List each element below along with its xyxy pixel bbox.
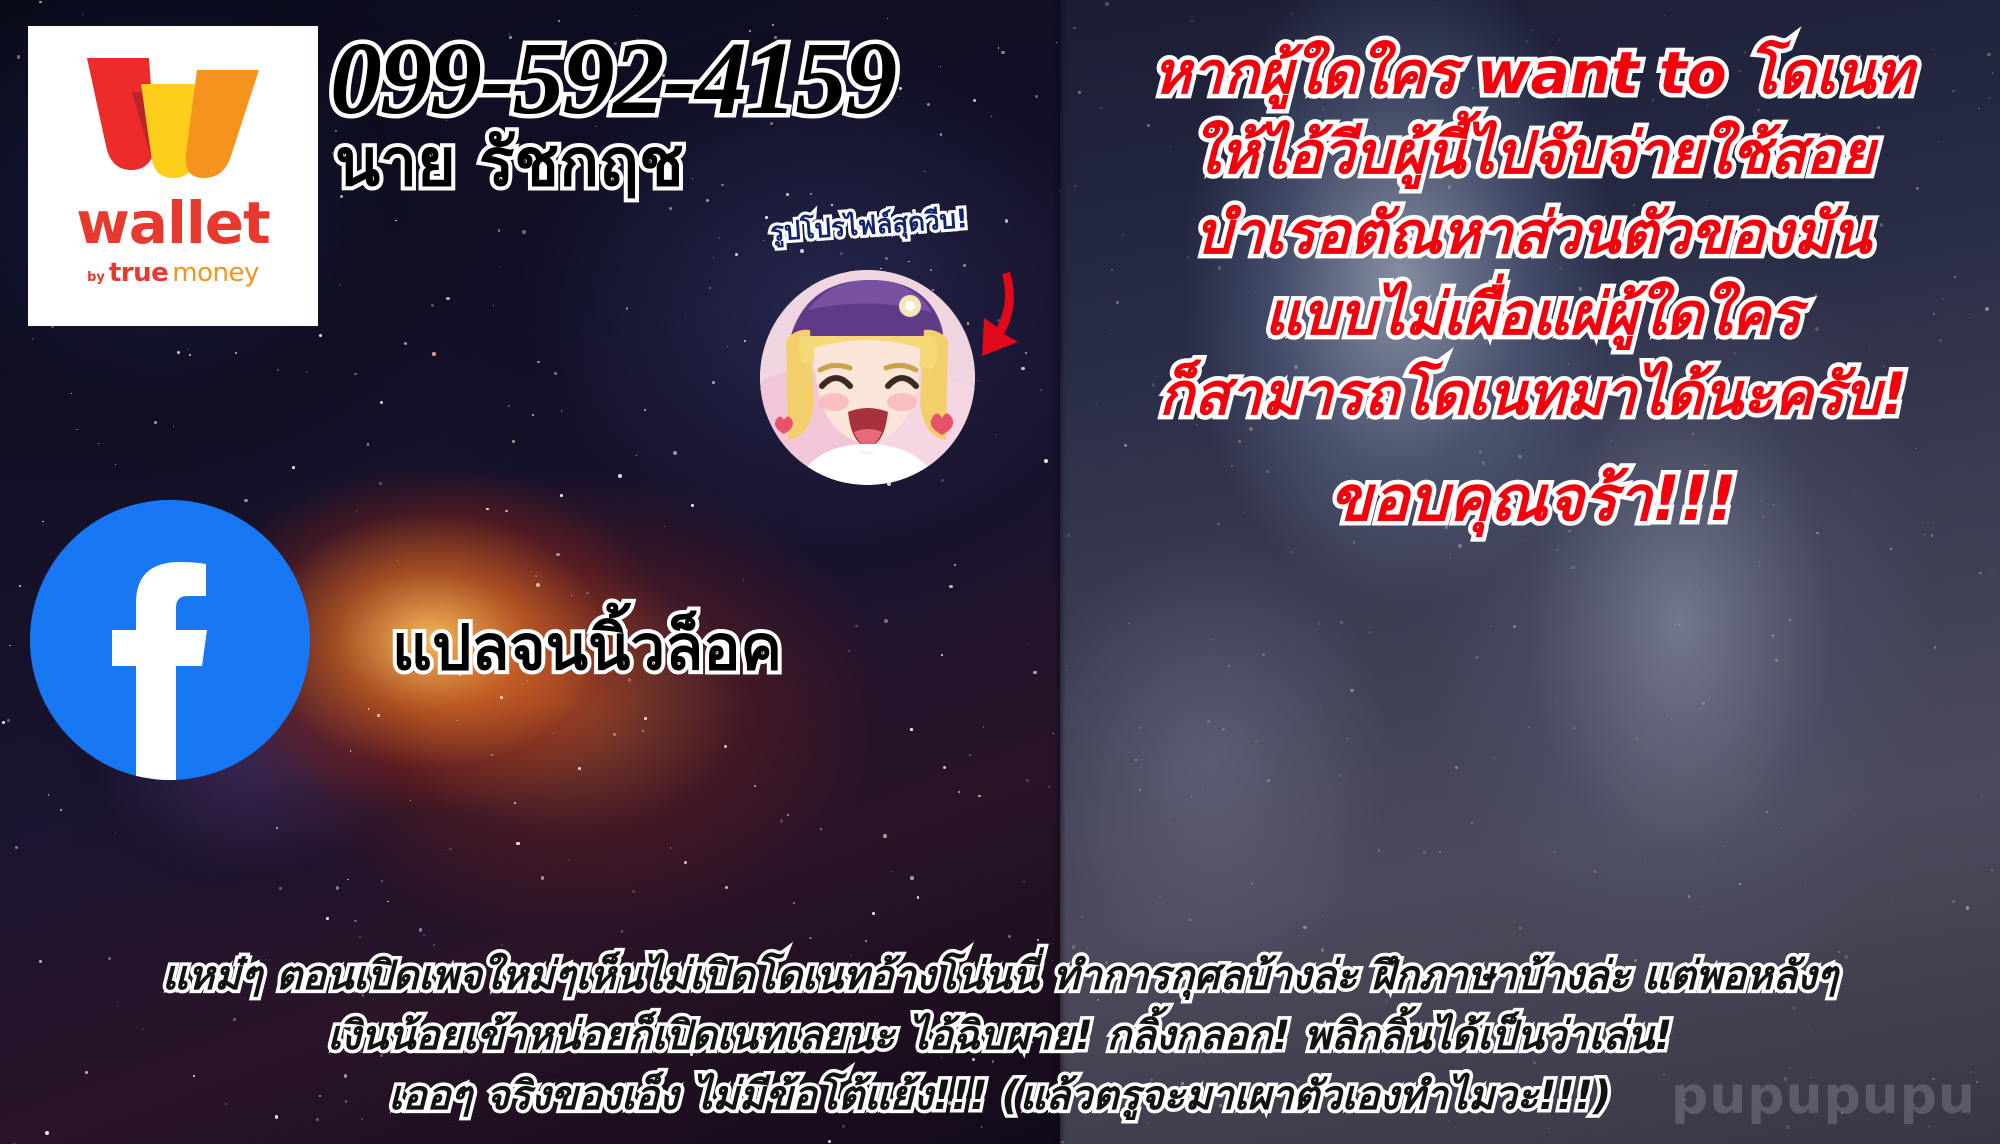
wallet-wordmark: wallet [76,194,270,252]
truemoney-byline: by true money [87,258,259,288]
watermark-text: pupupupu [1671,1066,1976,1126]
brand-money: money [172,258,259,288]
phone-number: 099-592-4159 [330,24,895,133]
red-message-line: บำเรอตัณหาส่วนตัวของมัน [1195,196,1871,270]
truemoney-wallet-w-mark-icon [75,52,271,182]
facebook-f-logo-icon [30,500,310,780]
red-message-line: ก็สามารถโดเนทมาได้นะครับ! [1159,357,1907,431]
red-pointer-arrow-icon [952,268,1022,358]
brand-true: true [109,258,168,288]
account-holder-name: นาย รัชกฤช [335,128,684,197]
translation-slogan: แปลจนนิ้วล็อค [392,615,782,680]
red-message-line: ให้ไอ้วีบผู้นี้ไปจับจ่ายใช้สอย [1192,116,1875,190]
truemoney-wallet-logo-card: wallet by true money [28,26,318,326]
byline-prefix: by [87,270,105,285]
bottom-caption-line: เออๆ จริงของเอ็ง ไม่มีข้อโต้แย้ง!!! (แล้… [389,1070,1611,1122]
bottom-caption-line: เงินน้อยเข้าหน่อยก็เปิดเนทเลยนะ ไอ้ฉิบผา… [328,1010,1673,1062]
red-message-line: หากผู้ใดใคร want to โดเนท [1153,36,1914,110]
red-message-thanks: ขอบคุณจร้า!!! [1329,459,1736,538]
bottom-caption-line: แหม๋ๆ ตอนเปิดเพจใหม่ๆเห็นไม่เปิดโดเนทอ้า… [162,950,1838,1002]
red-message-line: แบบไม่เผื่อแผ่ผู้ใดใคร [1265,277,1802,351]
promo-image-canvas: wallet by true money 099-592-4159 นาย รั… [0,0,2000,1144]
red-donation-message: หากผู้ใดใคร want to โดเนท ให้ไอ้วีบผู้นี… [1068,36,1998,539]
anime-girl-profile-avatar-icon [760,270,975,485]
